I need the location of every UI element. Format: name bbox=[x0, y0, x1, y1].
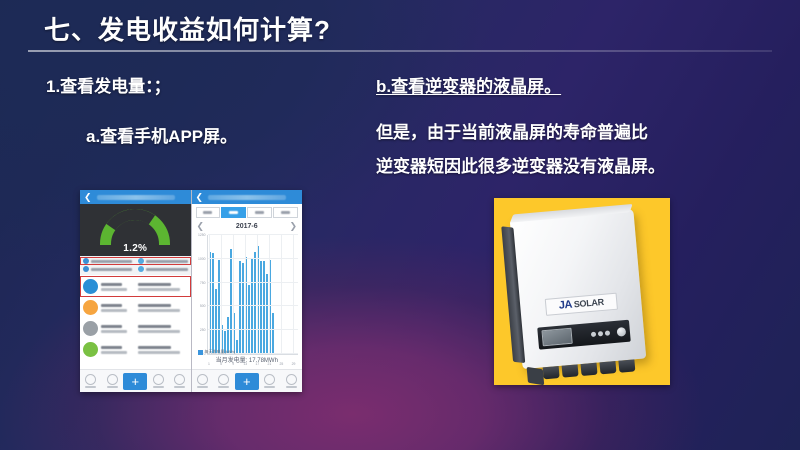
chart-total-label: 当月发电量: 17.78MWh bbox=[192, 355, 303, 364]
person-icon bbox=[174, 374, 185, 385]
chart-bar bbox=[260, 261, 262, 354]
income-icon bbox=[83, 300, 98, 315]
metric-text bbox=[101, 283, 132, 291]
body-right-line-1: b.查看逆变器的液晶屏。 bbox=[376, 72, 561, 97]
connector bbox=[581, 363, 598, 376]
chart-bar bbox=[242, 263, 244, 354]
nav-item-add[interactable]: + bbox=[123, 373, 147, 390]
inverter-photo: JA SOLAR bbox=[494, 198, 670, 385]
connector bbox=[543, 366, 560, 379]
bottom-nav-chart: + bbox=[192, 369, 303, 392]
tab-year[interactable] bbox=[247, 207, 272, 218]
inverter-heatsink bbox=[501, 226, 525, 363]
nav-item-add[interactable]: + bbox=[235, 373, 259, 390]
brand-solar-text: SOLAR bbox=[573, 298, 604, 310]
nav-item-profile[interactable] bbox=[169, 374, 191, 388]
chart-gridline-v bbox=[257, 235, 258, 354]
metric-label bbox=[138, 346, 171, 349]
metric-text bbox=[138, 346, 187, 354]
home-icon bbox=[197, 374, 208, 385]
metric-label bbox=[101, 325, 122, 328]
metric-value bbox=[101, 288, 127, 291]
plus-icon: + bbox=[123, 373, 147, 390]
status-row-secondary bbox=[80, 265, 191, 273]
metric-label bbox=[138, 283, 171, 286]
tab-label bbox=[281, 211, 290, 214]
metric-value bbox=[138, 288, 179, 291]
body-left-line-2: a.查看手机APP屏。 bbox=[86, 122, 237, 147]
status-icon bbox=[138, 258, 144, 264]
nav-label bbox=[264, 386, 275, 388]
gauge-percent-label: 1.2% bbox=[80, 243, 191, 254]
nav-item-home[interactable] bbox=[80, 374, 102, 388]
connector bbox=[618, 359, 635, 372]
left-line-2-text: a.查看手机APP屏。 bbox=[86, 127, 237, 146]
nav-item-stats[interactable] bbox=[213, 374, 235, 388]
inverter-top-face bbox=[510, 204, 633, 223]
metric-value bbox=[138, 330, 179, 333]
panel-button bbox=[605, 330, 610, 335]
metric-label bbox=[101, 346, 122, 349]
chevron-right-icon[interactable]: ❯ bbox=[289, 222, 297, 231]
bell-icon bbox=[153, 374, 164, 385]
inverter-control-panel bbox=[537, 320, 631, 350]
body-left-line-1: 1.查看发电量：； bbox=[46, 72, 171, 97]
metric-text bbox=[101, 304, 132, 312]
bell-icon bbox=[264, 374, 275, 385]
chart-gridline-v bbox=[233, 235, 234, 354]
chart-bar bbox=[230, 249, 232, 354]
nav-label bbox=[218, 386, 229, 388]
chart-bar bbox=[248, 285, 250, 354]
slide-canvas: 七、发电收益如何计算? 1.查看发电量：； a.查看手机APP屏。 b.查看逆变… bbox=[0, 0, 800, 450]
chart-header-title bbox=[208, 195, 286, 200]
nav-item-stats[interactable] bbox=[102, 374, 124, 388]
efficiency-gauge bbox=[100, 209, 170, 245]
panel-buttons bbox=[591, 330, 610, 337]
chart-y-tick: 500 bbox=[192, 304, 206, 308]
metric-today-trees bbox=[80, 339, 135, 360]
metric-total-coal bbox=[135, 318, 190, 339]
status-row-highlighted bbox=[80, 257, 191, 265]
nav-label bbox=[197, 386, 208, 388]
metric-total-energy bbox=[135, 276, 190, 297]
status-cell-date bbox=[135, 265, 190, 273]
overview-header: ❮ bbox=[80, 190, 191, 204]
metric-total-income bbox=[135, 297, 190, 318]
nav-label bbox=[174, 386, 185, 388]
metric-total-trees bbox=[135, 339, 190, 360]
status-date-value bbox=[146, 268, 187, 271]
nav-item-profile[interactable] bbox=[280, 374, 302, 388]
page-title: 七、发电收益如何计算? bbox=[44, 10, 331, 47]
metric-today-energy bbox=[80, 276, 135, 297]
lcd-screen bbox=[541, 328, 572, 347]
status-power-value bbox=[91, 260, 132, 263]
metric-text bbox=[101, 325, 132, 333]
metric-value bbox=[138, 309, 179, 312]
tab-day[interactable] bbox=[196, 207, 221, 218]
chart-bar bbox=[239, 261, 241, 354]
metric-text bbox=[101, 346, 132, 354]
chart-bar bbox=[263, 261, 265, 354]
metric-text bbox=[138, 283, 187, 291]
chart-bar bbox=[272, 313, 274, 354]
chart-bar bbox=[236, 340, 238, 354]
panel-button bbox=[598, 331, 603, 336]
capacity-icon bbox=[83, 266, 89, 272]
chart-bar bbox=[266, 274, 268, 354]
chart-gridline-v bbox=[221, 235, 222, 354]
chevron-left-icon[interactable]: ❮ bbox=[84, 193, 92, 202]
calendar-icon bbox=[138, 266, 144, 272]
body-right-line-2: 但是，由于当前液晶屏的寿命普遍比 bbox=[376, 118, 648, 143]
tree-icon bbox=[83, 342, 98, 357]
inverter-bottom-bracket bbox=[527, 367, 545, 385]
chart-gridline-v bbox=[245, 235, 246, 354]
chart-gridline-v bbox=[269, 235, 270, 354]
nav-label bbox=[286, 386, 297, 388]
list-item[interactable] bbox=[80, 339, 191, 360]
list-item[interactable] bbox=[80, 318, 191, 339]
nav-label bbox=[85, 386, 96, 388]
body-right-line-3: 逆变器短因此很多逆变器没有液晶屏。 bbox=[376, 152, 665, 177]
connector bbox=[562, 364, 579, 377]
tab-month[interactable] bbox=[221, 207, 246, 218]
tab-history[interactable] bbox=[273, 207, 298, 218]
nav-label bbox=[153, 386, 164, 388]
right-line-1-text: b.查看逆变器的液晶屏。 bbox=[376, 77, 561, 96]
chart-gridline-v bbox=[293, 235, 294, 354]
metric-label bbox=[101, 304, 122, 307]
energy-icon bbox=[83, 279, 98, 294]
status-strip bbox=[80, 256, 191, 275]
status-cell-power bbox=[80, 257, 135, 265]
chart-gridline-v bbox=[209, 235, 210, 354]
period-tabs bbox=[192, 204, 303, 220]
person-icon bbox=[286, 374, 297, 385]
metric-today-income bbox=[80, 297, 135, 318]
bottom-nav-overview: + bbox=[80, 369, 191, 392]
status-cell-capacity bbox=[80, 265, 135, 273]
metric-text bbox=[138, 304, 187, 312]
chart-y-tick: 250 bbox=[192, 328, 206, 332]
nav-item-alerts[interactable] bbox=[147, 374, 169, 388]
chart-bar bbox=[218, 260, 220, 354]
metric-today-coal bbox=[80, 318, 135, 339]
metric-list bbox=[80, 275, 191, 369]
brand-ja-text: JA bbox=[558, 300, 572, 312]
list-item[interactable] bbox=[80, 297, 191, 318]
chart-bar bbox=[215, 289, 217, 354]
coal-icon bbox=[83, 321, 98, 336]
status-cell-state bbox=[135, 257, 190, 265]
status-capacity-value bbox=[91, 268, 132, 271]
legend-swatch bbox=[198, 350, 203, 355]
tab-label bbox=[255, 211, 264, 214]
left-line-1-text: 1.查看发电量：； bbox=[46, 77, 171, 96]
metric-text bbox=[138, 325, 187, 333]
nav-item-alerts[interactable] bbox=[259, 374, 281, 388]
stats-icon bbox=[218, 374, 229, 385]
inverter-body: JA SOLAR bbox=[510, 209, 647, 369]
panel-button bbox=[591, 331, 596, 336]
nav-item-home[interactable] bbox=[192, 374, 214, 388]
home-icon bbox=[85, 374, 96, 385]
phone-app-screenshot: ❮ 1.2% bbox=[80, 190, 302, 392]
nav-label bbox=[107, 386, 118, 388]
chart-y-tick: 750 bbox=[192, 281, 206, 285]
date-label: 2017-6 bbox=[236, 223, 258, 230]
title-divider bbox=[28, 50, 772, 52]
chart-plot-area bbox=[207, 235, 299, 355]
chart-bar bbox=[254, 252, 256, 354]
chart-bar bbox=[212, 253, 214, 354]
metric-value bbox=[101, 351, 127, 354]
energy-bar-chart: 025050075010001250 1591317212529 每天发电量(k… bbox=[192, 232, 303, 369]
date-selector: ❮ 2017-6 ❯ bbox=[192, 220, 303, 232]
phone-screen-overview: ❮ 1.2% bbox=[80, 190, 192, 392]
power-icon bbox=[83, 258, 89, 264]
plus-icon: + bbox=[235, 373, 259, 390]
chart-gridline-v bbox=[281, 235, 282, 354]
metric-label bbox=[138, 304, 171, 307]
list-item[interactable] bbox=[80, 276, 191, 297]
chart-y-tick: 1250 bbox=[192, 233, 206, 237]
inverter-connectors bbox=[543, 359, 636, 381]
ja-solar-logo: JA SOLAR bbox=[545, 293, 618, 316]
overview-header-title bbox=[97, 195, 175, 200]
chevron-left-icon[interactable]: ❮ bbox=[197, 222, 205, 231]
chart-header: ❮ bbox=[192, 190, 303, 204]
metric-label bbox=[138, 325, 171, 328]
connector bbox=[599, 361, 616, 374]
tab-label bbox=[229, 211, 238, 214]
metric-value bbox=[101, 330, 127, 333]
panel-knob bbox=[616, 327, 626, 337]
status-state-value bbox=[146, 260, 187, 263]
tab-label bbox=[203, 211, 212, 214]
metric-label bbox=[101, 283, 122, 286]
metric-value bbox=[101, 309, 127, 312]
phone-screen-chart: ❮ ❮ 2017-6 ❯ 025050075010001250 15913172… bbox=[192, 190, 303, 392]
metric-value bbox=[138, 351, 179, 354]
gauge-panel: 1.2% bbox=[80, 204, 191, 256]
stats-icon bbox=[107, 374, 118, 385]
chart-y-tick: 1000 bbox=[192, 257, 206, 261]
chevron-left-icon[interactable]: ❮ bbox=[196, 193, 204, 202]
